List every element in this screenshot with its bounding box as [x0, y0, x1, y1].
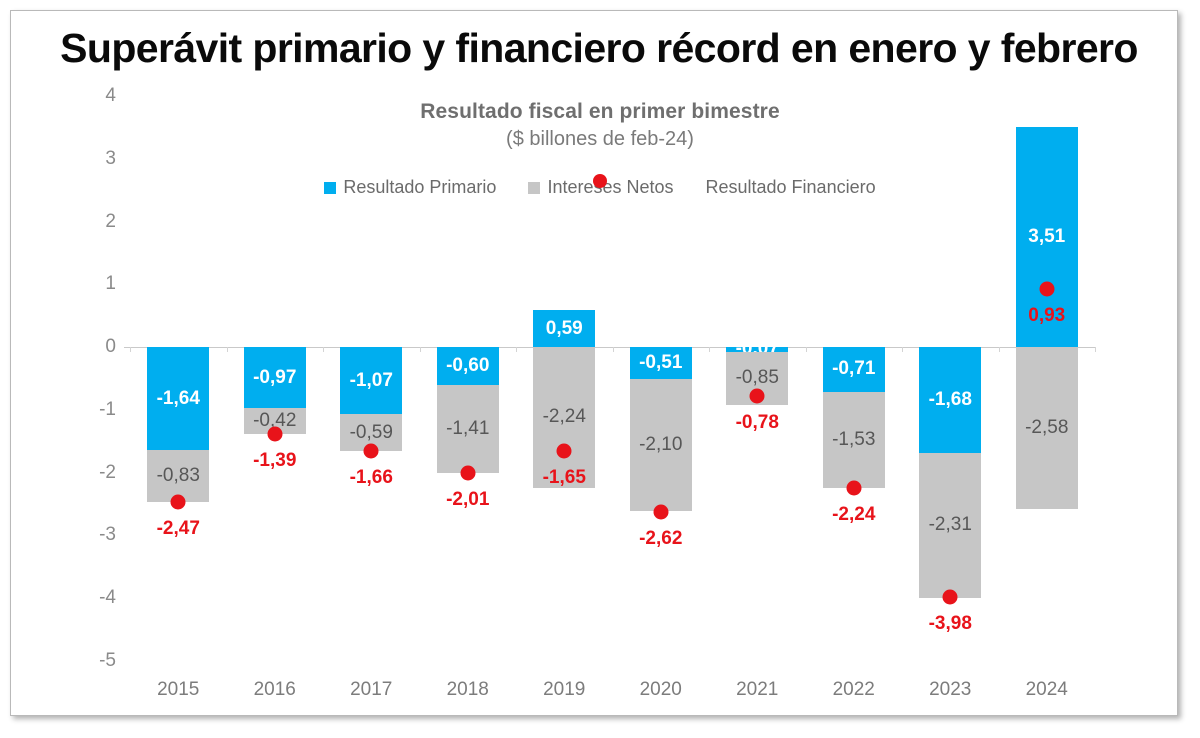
- financial-result-marker[interactable]: [267, 427, 282, 442]
- financial-result-marker[interactable]: [943, 589, 958, 604]
- y-axis-tick-label: -5: [99, 650, 116, 672]
- x-axis-label-2023: 2023: [902, 679, 999, 701]
- financial-result-label: -2,24: [806, 504, 903, 526]
- financial-result-label: -1,39: [227, 450, 324, 472]
- bar-value-label: -2,24: [516, 406, 613, 428]
- x-axis-tick-mark: [1095, 347, 1096, 352]
- x-axis-tick-mark: [516, 347, 517, 352]
- bar-value-label: -1,64: [130, 388, 227, 410]
- financial-result-label: -0,78: [709, 412, 806, 434]
- financial-result-marker[interactable]: [1039, 281, 1054, 296]
- fiscal-result-chart: Resultado fiscal en primer bimestre ($ b…: [0, 0, 1200, 738]
- bar-value-label: 0,59: [516, 318, 613, 340]
- bar-group[interactable]: -0,71-1,53-2,242022: [806, 96, 903, 661]
- financial-result-marker[interactable]: [750, 389, 765, 404]
- x-axis-tick-mark: [227, 347, 228, 352]
- y-axis-tick-label: -2: [99, 462, 116, 484]
- y-axis-tick-label: -1: [99, 399, 116, 421]
- bar-group[interactable]: -1,07-0,59-1,662017: [323, 96, 420, 661]
- bar-group[interactable]: -1,64-0,83-2,472015: [130, 96, 227, 661]
- y-axis-tick-label: 2: [105, 211, 116, 233]
- x-axis-label-2018: 2018: [420, 679, 517, 701]
- y-axis-tick-label: 3: [105, 148, 116, 170]
- financial-result-label: -3,98: [902, 613, 999, 635]
- x-axis-label-2020: 2020: [613, 679, 710, 701]
- y-axis-tick-label: 4: [105, 85, 116, 107]
- bar-group[interactable]: -0,07-0,85-0,782021: [709, 96, 806, 661]
- bar-group[interactable]: -0,97-0,42-1,392016: [227, 96, 324, 661]
- bar-value-label: -0,85: [709, 367, 806, 389]
- y-axis-tick-label: -4: [99, 587, 116, 609]
- x-axis-tick-mark: [323, 347, 324, 352]
- bar-value-label: -0,83: [130, 465, 227, 487]
- bar-value-label: 3,51: [999, 226, 1096, 248]
- bar-value-label: -2,10: [613, 434, 710, 456]
- financial-result-label: -1,66: [323, 467, 420, 489]
- x-axis-label-2022: 2022: [806, 679, 903, 701]
- x-axis-label-2019: 2019: [516, 679, 613, 701]
- bar-value-label: -0,97: [227, 367, 324, 389]
- financial-result-marker[interactable]: [460, 466, 475, 481]
- bar-value-label: -0,60: [420, 355, 517, 377]
- x-axis-tick-mark: [999, 347, 1000, 352]
- bar-value-label: -1,53: [806, 429, 903, 451]
- bar-value-label: -2,58: [999, 417, 1096, 439]
- x-axis-label-2024: 2024: [999, 679, 1096, 701]
- financial-result-marker[interactable]: [653, 504, 668, 519]
- x-axis-label-2015: 2015: [130, 679, 227, 701]
- x-axis-tick-mark: [130, 347, 131, 352]
- x-axis-tick-mark: [902, 347, 903, 352]
- financial-result-label: -2,47: [130, 518, 227, 540]
- bar-value-label: -0,59: [323, 422, 420, 444]
- bar-value-label: -1,41: [420, 418, 517, 440]
- y-axis-tick-label: -3: [99, 524, 116, 546]
- financial-result-marker[interactable]: [364, 444, 379, 459]
- financial-result-marker[interactable]: [557, 443, 572, 458]
- bar-value-label: -1,07: [323, 370, 420, 392]
- bar-value-label: -1,68: [902, 389, 999, 411]
- x-axis-label-2016: 2016: [227, 679, 324, 701]
- financial-result-marker[interactable]: [171, 495, 186, 510]
- bar-value-label: -2,31: [902, 514, 999, 536]
- bar-value-label: -0,71: [806, 358, 903, 380]
- financial-result-label: -2,62: [613, 528, 710, 550]
- x-axis-tick-mark: [806, 347, 807, 352]
- plot-area: 43210-1-2-3-4-5-1,64-0,83-2,472015-0,97-…: [130, 96, 1095, 661]
- x-axis-label-2021: 2021: [709, 679, 806, 701]
- x-axis-label-2017: 2017: [323, 679, 420, 701]
- bar-group[interactable]: -0,60-1,41-2,012018: [420, 96, 517, 661]
- x-axis-tick-mark: [420, 347, 421, 352]
- bar-group[interactable]: -1,68-2,31-3,982023: [902, 96, 999, 661]
- bar-group[interactable]: -0,51-2,10-2,622020: [613, 96, 710, 661]
- financial-result-marker[interactable]: [846, 480, 861, 495]
- financial-result-label: -1,65: [516, 467, 613, 489]
- bar-group[interactable]: 0,59-2,24-1,652019: [516, 96, 613, 661]
- y-axis-tick-label: 0: [105, 336, 116, 358]
- bar-group[interactable]: 3,51-2,580,932024: [999, 96, 1096, 661]
- financial-result-label: -2,01: [420, 489, 517, 511]
- bar-value-label: -0,51: [613, 352, 710, 374]
- financial-result-label: 0,93: [999, 305, 1096, 327]
- y-axis-tick-label: 1: [105, 273, 116, 295]
